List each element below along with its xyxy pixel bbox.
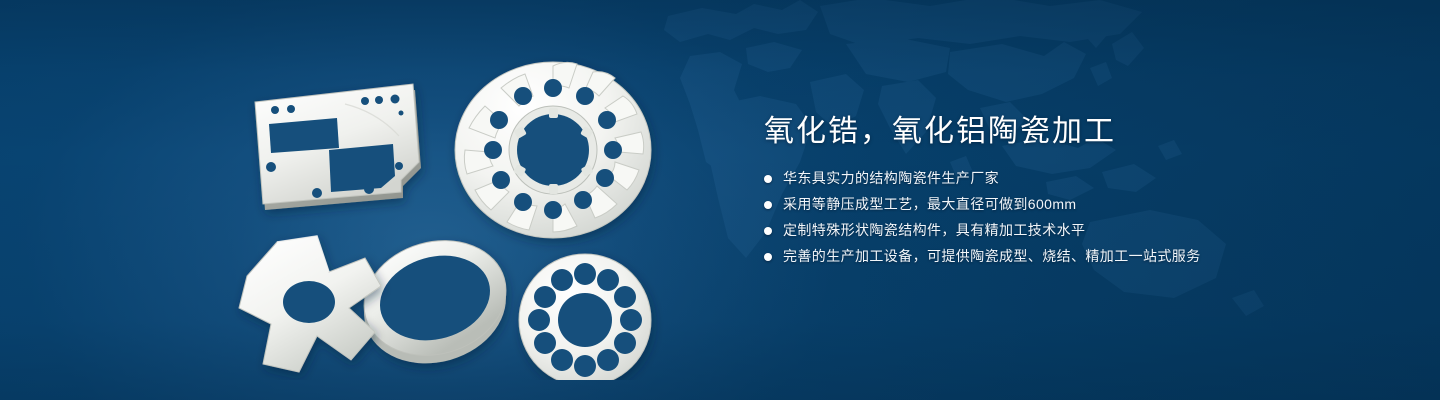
ceramic-processing-banner: 氧化锆，氧化铝陶瓷加工 华东具实力的结构陶瓷件生产厂家 采用等静压成型工艺，最大… xyxy=(0,0,1440,400)
product-flange-disc xyxy=(519,254,651,380)
banner-headline: 氧化锆，氧化铝陶瓷加工 xyxy=(764,112,1384,152)
feature-text: 定制特殊形状陶瓷结构件，具有精加工技术水平 xyxy=(783,220,1085,241)
feature-text: 完善的生产加工设备，可提供陶瓷成型、烧结、精加工一站式服务 xyxy=(783,246,1201,267)
banner-text-block: 氧化锆，氧化铝陶瓷加工 华东具实力的结构陶瓷件生产厂家 采用等静压成型工艺，最大… xyxy=(764,112,1384,272)
feature-text: 采用等静压成型工艺，最大直径可做到600mm xyxy=(783,194,1076,215)
bullet-dot-icon xyxy=(764,253,772,261)
feature-item: 定制特殊形状陶瓷结构件，具有精加工技术水平 xyxy=(764,220,1384,241)
ceramic-products-image xyxy=(225,40,685,380)
product-impeller-disc xyxy=(455,62,651,238)
product-cross-plate xyxy=(239,236,381,372)
feature-item: 华东具实力的结构陶瓷件生产厂家 xyxy=(764,168,1384,189)
product-ring-stack xyxy=(350,224,519,379)
banner-feature-list: 华东具实力的结构陶瓷件生产厂家 采用等静压成型工艺，最大直径可做到600mm 定… xyxy=(764,168,1384,267)
feature-item: 完善的生产加工设备，可提供陶瓷成型、烧结、精加工一站式服务 xyxy=(764,246,1384,267)
product-flat-plate xyxy=(255,84,421,210)
feature-text: 华东具实力的结构陶瓷件生产厂家 xyxy=(783,168,999,189)
bullet-dot-icon xyxy=(764,175,772,183)
bullet-dot-icon xyxy=(764,227,772,235)
feature-item: 采用等静压成型工艺，最大直径可做到600mm xyxy=(764,194,1384,215)
bullet-dot-icon xyxy=(764,201,772,209)
